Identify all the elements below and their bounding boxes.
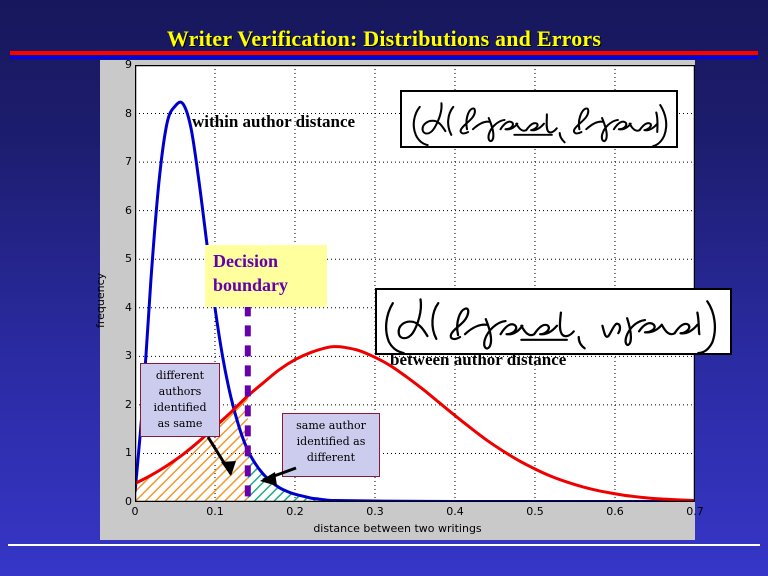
callout-left-line-2: identified (141, 400, 219, 416)
y-axis-label: frequency (94, 273, 107, 328)
y-tick-label: 9 (122, 58, 132, 71)
x-tick-label: 0.3 (361, 505, 389, 518)
y-tick-label: 7 (122, 155, 132, 168)
callout-left-line-1: authors (141, 384, 219, 400)
x-tick-label: 0.5 (521, 505, 549, 518)
slide-canvas: Writer Verification: Distributions and E… (0, 0, 768, 576)
callout-right-line-1: identified as (283, 434, 379, 450)
handwriting-sample-within-author (400, 90, 678, 148)
y-tick-label: 2 (122, 398, 132, 411)
y-tick-label: 3 (122, 349, 132, 362)
y-tick-label: 8 (122, 107, 132, 120)
page-title: Writer Verification: Distributions and E… (0, 26, 768, 52)
decision-label-line2: boundary (213, 273, 327, 297)
callout-same-author-different: same author identified as different (282, 413, 380, 477)
x-tick-label: 0.7 (681, 505, 709, 518)
within-author-annotation: within author distance (192, 112, 355, 132)
title-rule-red (10, 51, 758, 55)
footer-rule (8, 544, 760, 546)
callout-left-line-0: different (141, 368, 219, 384)
handwriting-glyphs-2 (377, 290, 730, 353)
x-axis-label: distance between two writings (100, 522, 695, 535)
callout-right-line-2: different (283, 450, 379, 466)
x-tick-label: 0.1 (201, 505, 229, 518)
y-tick-label: 1 (122, 446, 132, 459)
handwriting-sample-between-author (375, 288, 732, 355)
y-tick-label: 6 (122, 204, 132, 217)
x-tick-label: 0.6 (601, 505, 629, 518)
handwriting-glyphs-1 (402, 92, 676, 146)
x-tick-label: 0.2 (281, 505, 309, 518)
decision-boundary-label: Decision boundary (205, 245, 327, 307)
callout-right-line-0: same author (283, 418, 379, 434)
callout-left-line-3: as same (141, 416, 219, 432)
x-tick-label: 0.4 (441, 505, 469, 518)
x-tick-label: 0 (121, 505, 149, 518)
y-tick-label: 4 (122, 301, 132, 314)
decision-label-line1: Decision (213, 249, 327, 273)
y-tick-label: 5 (122, 252, 132, 265)
callout-different-authors-same: different authors identified as same (140, 363, 220, 437)
